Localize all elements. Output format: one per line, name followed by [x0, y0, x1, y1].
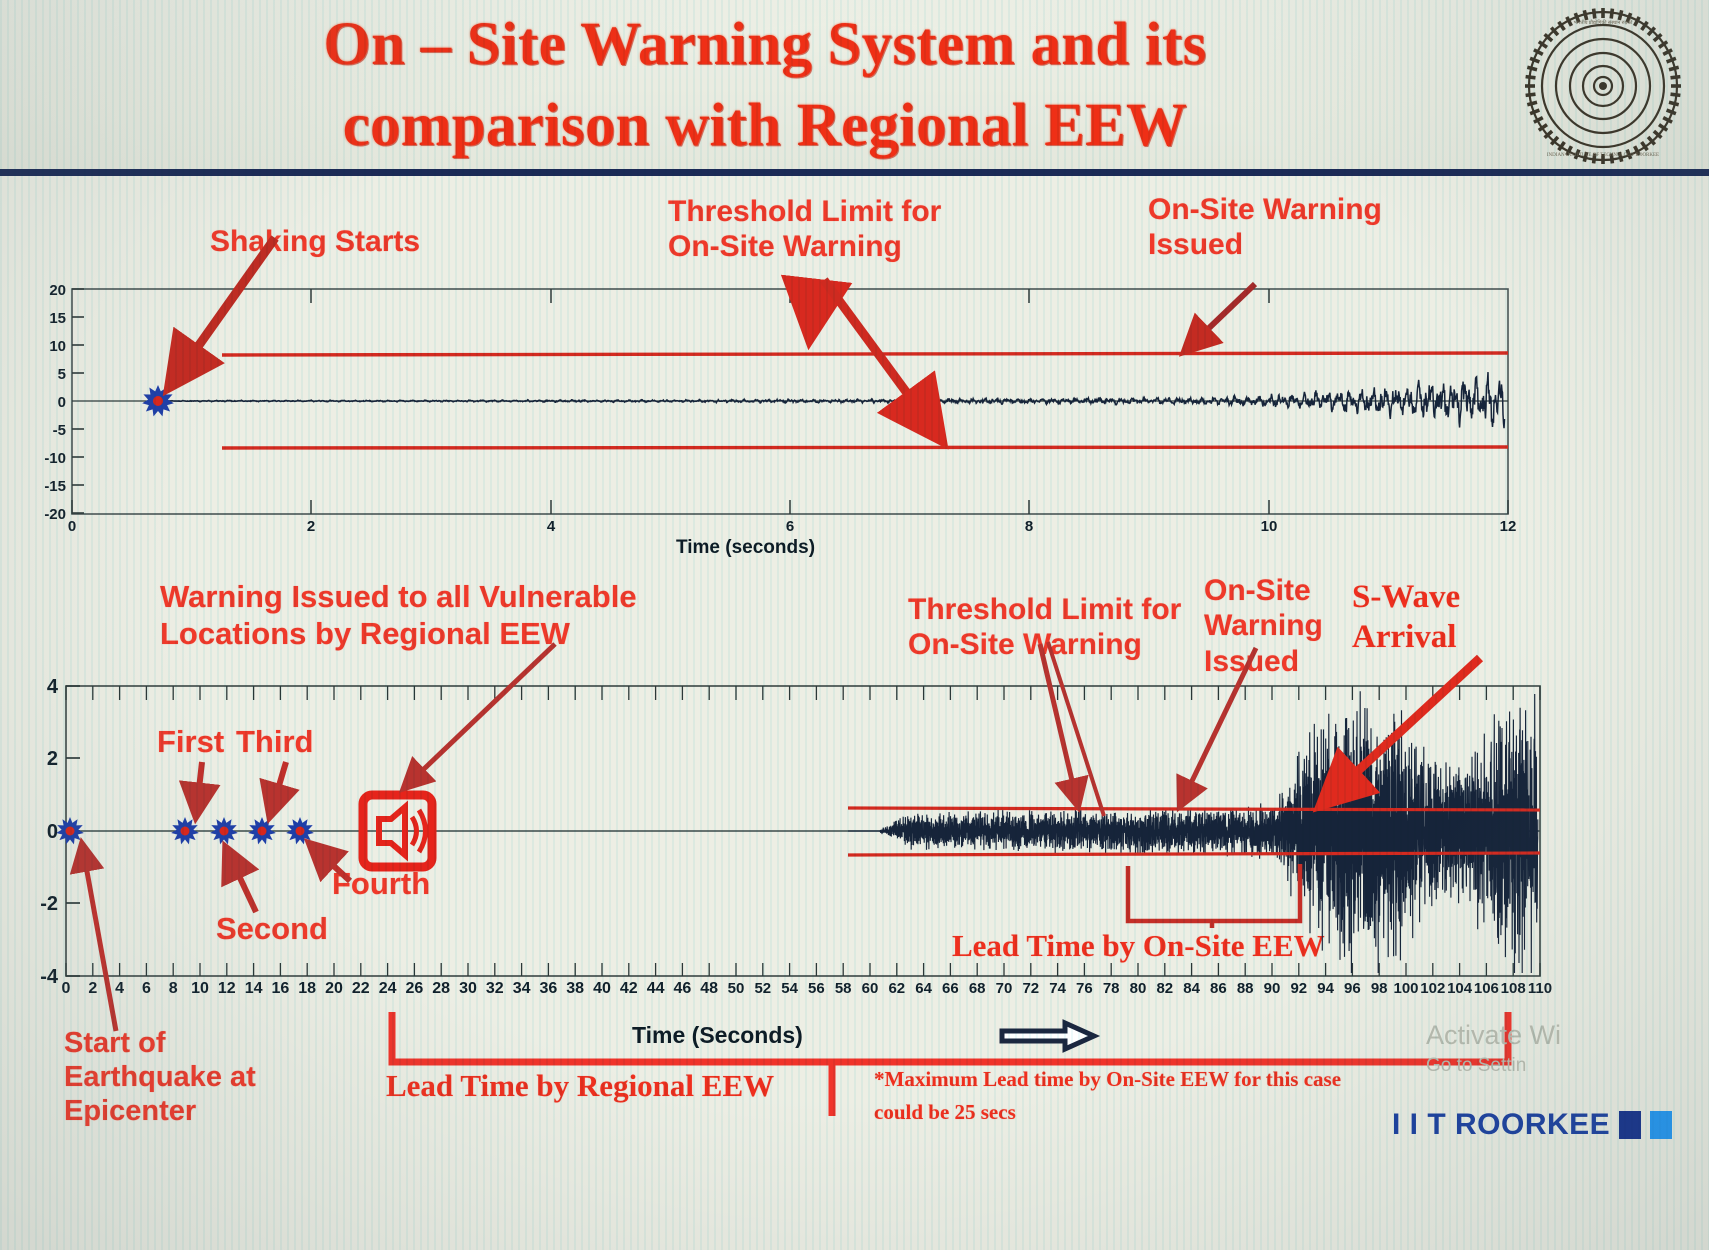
- top-chart-xaxis-title: Time (seconds): [676, 537, 815, 559]
- top-xtick: 4: [531, 518, 571, 535]
- presentation-slide: On – Site Warning System and its compari…: [0, 0, 1709, 1250]
- svg-text:INDIAN INSTITUTE OF TECHNOLOGY: INDIAN INSTITUTE OF TECHNOLOGY ROORKEE: [1547, 153, 1659, 158]
- top-ytick: -10: [24, 450, 66, 467]
- logo-square-dark-icon: [1619, 1111, 1641, 1139]
- top-ytick: -5: [24, 422, 66, 439]
- bottom-chart-plot: [0, 576, 1709, 1250]
- page-title-line1: On – Site Warning System and its: [150, 4, 1380, 85]
- bottom-xtick: 110: [1521, 980, 1559, 997]
- top-chart-plot: [0, 176, 1709, 576]
- marker-start-of-earthquake: [56, 817, 84, 844]
- top-xtick: 10: [1249, 518, 1289, 535]
- shaking-start-marker: [142, 385, 174, 416]
- bottom-ytick: 4: [20, 676, 58, 699]
- top-chart-panel: Shaking Starts Threshold Limit for On-Si…: [0, 176, 1709, 576]
- top-ytick: 20: [24, 282, 66, 299]
- bottom-xtick-labels: 0246810121416182022242628303234363840424…: [0, 980, 1709, 1010]
- iit-roorkee-emblem-icon: भारतीय प्रौद्योगिकी संस्थान रुड़की INDIA…: [1523, 6, 1683, 166]
- top-xtick: 12: [1488, 518, 1528, 535]
- bottom-chart-panel: Warning Issued to all Vulnerable Locatio…: [0, 576, 1709, 1250]
- top-ytick: -15: [24, 478, 66, 495]
- time-direction-arrow-icon: [1002, 1023, 1094, 1049]
- logo-square-light-icon: [1650, 1111, 1672, 1139]
- top-ytick: 0: [24, 394, 66, 411]
- marker-fourth: [286, 817, 314, 844]
- marker-third: [248, 817, 276, 844]
- bottom-ytick: 0: [20, 821, 58, 844]
- top-xtick: 8: [1009, 518, 1049, 535]
- bottom-ytick: -2: [20, 893, 58, 916]
- activate-windows-watermark-line1: Activate Wi: [1426, 1020, 1561, 1051]
- top-ytick: 5: [24, 366, 66, 383]
- bottom-ytick: 2: [20, 748, 58, 771]
- activate-windows-watermark-line2: Go to Settin: [1426, 1055, 1526, 1077]
- top-xtick: 2: [291, 518, 331, 535]
- bottom-chart-xaxis-title: Time (Seconds): [632, 1022, 803, 1049]
- page-title-line2: comparison with Regional EEW: [150, 85, 1380, 166]
- iit-roorkee-footer-text: I I T ROORKEE: [1392, 1108, 1610, 1142]
- top-ytick: 15: [24, 310, 66, 327]
- slide-header: On – Site Warning System and its compari…: [0, 0, 1709, 176]
- marker-first: [171, 817, 199, 844]
- iit-roorkee-footer-logo: I I T ROORKEE: [1392, 1108, 1672, 1142]
- page-title: On – Site Warning System and its compari…: [150, 4, 1380, 166]
- top-xtick: 6: [770, 518, 810, 535]
- top-ytick: 10: [24, 338, 66, 355]
- marker-second: [210, 817, 238, 844]
- svg-text:भारतीय प्रौद्योगिकी संस्थान रु: भारतीय प्रौद्योगिकी संस्थान रुड़की: [1574, 19, 1633, 26]
- top-xtick: 0: [52, 518, 92, 535]
